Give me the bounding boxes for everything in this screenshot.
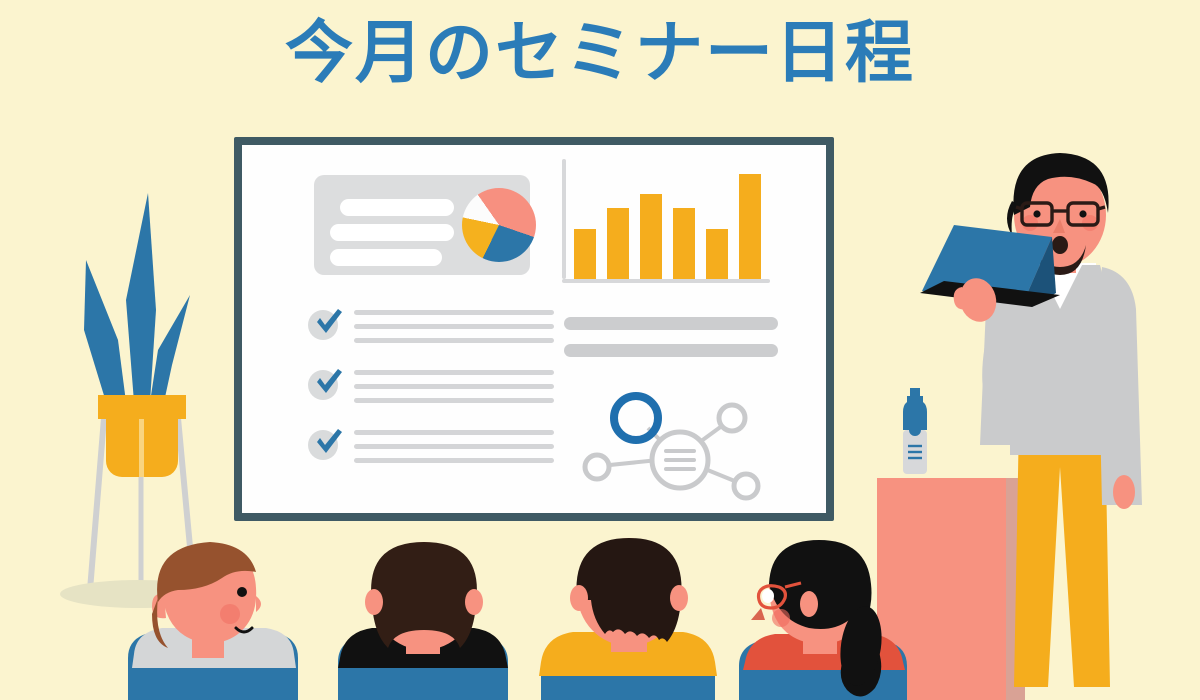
audience-member-2: [330, 540, 520, 700]
slide-text-line: [330, 224, 454, 241]
audience-eye: [237, 587, 247, 597]
bar-5: [706, 229, 728, 279]
audience-ear: [570, 585, 588, 611]
checklist-line: [354, 370, 554, 375]
bar-chart-y-axis: [562, 159, 566, 279]
checklist-line: [354, 398, 554, 403]
presentation-screen: [234, 137, 834, 521]
checklist-line: [354, 310, 554, 315]
presenter-hand-right: [1113, 475, 1135, 509]
audience-cheek: [220, 604, 240, 624]
seminar-poster: 今月のセミナー日程: [0, 0, 1200, 700]
audience-nose: [751, 608, 765, 620]
checklist-lines: [354, 430, 554, 472]
audience-ear: [670, 585, 688, 611]
checklist-item: [308, 428, 554, 476]
pie-chart: [462, 188, 536, 262]
checklist-lines: [354, 310, 554, 352]
checklist-line: [354, 338, 554, 343]
slide-text-line: [330, 249, 442, 266]
audience-cheek: [772, 609, 790, 627]
node-icon: [585, 455, 609, 479]
screen-text-bar: [564, 317, 778, 330]
bar-3: [640, 194, 662, 279]
page-title: 今月のセミナー日程: [0, 18, 1200, 89]
plant-pot: [98, 395, 186, 477]
check-icon: [310, 424, 346, 460]
checklist-line: [354, 384, 554, 389]
audience-ear: [365, 589, 383, 615]
bar-chart: [562, 159, 772, 283]
plant-leaves: [84, 193, 190, 402]
bar-1: [574, 229, 596, 279]
audience-member-3: [535, 540, 725, 700]
presenter-mouth: [1052, 236, 1068, 254]
node-graph: [552, 370, 782, 500]
slide-card: [314, 175, 530, 275]
audience-eye: [762, 589, 774, 603]
audience-member-1: [120, 540, 310, 700]
check-icon: [310, 364, 346, 400]
bar-2: [607, 208, 629, 279]
screen-text-bar: [564, 344, 778, 357]
presenter-eye: [1079, 210, 1086, 217]
audience-head: [570, 538, 688, 646]
slide-text-line: [340, 199, 454, 216]
node-icon: [734, 474, 758, 498]
audience-nose: [256, 596, 261, 612]
screen-content: [242, 145, 826, 513]
check-icon: [310, 304, 346, 340]
presenter-eye: [1033, 210, 1040, 217]
presenter: [960, 195, 1160, 700]
bar-chart-x-axis: [562, 279, 770, 283]
audience-head: [365, 542, 483, 650]
checklist-item: [308, 308, 554, 356]
audience-member-4: [735, 540, 925, 700]
node-highlight-icon: [614, 396, 658, 440]
node-icon: [719, 405, 745, 431]
checklist-line: [354, 458, 554, 463]
audience-ear: [800, 591, 818, 617]
audience-ear: [465, 589, 483, 615]
checklist-item: [308, 368, 554, 416]
checklist-line: [354, 430, 554, 435]
water-bottle: [897, 388, 933, 480]
checklist-line: [354, 444, 554, 449]
checklist-line: [354, 324, 554, 329]
checklist-lines: [354, 370, 554, 412]
bar-4: [673, 208, 695, 279]
checklist: [308, 308, 554, 488]
bar-6: [739, 174, 761, 279]
